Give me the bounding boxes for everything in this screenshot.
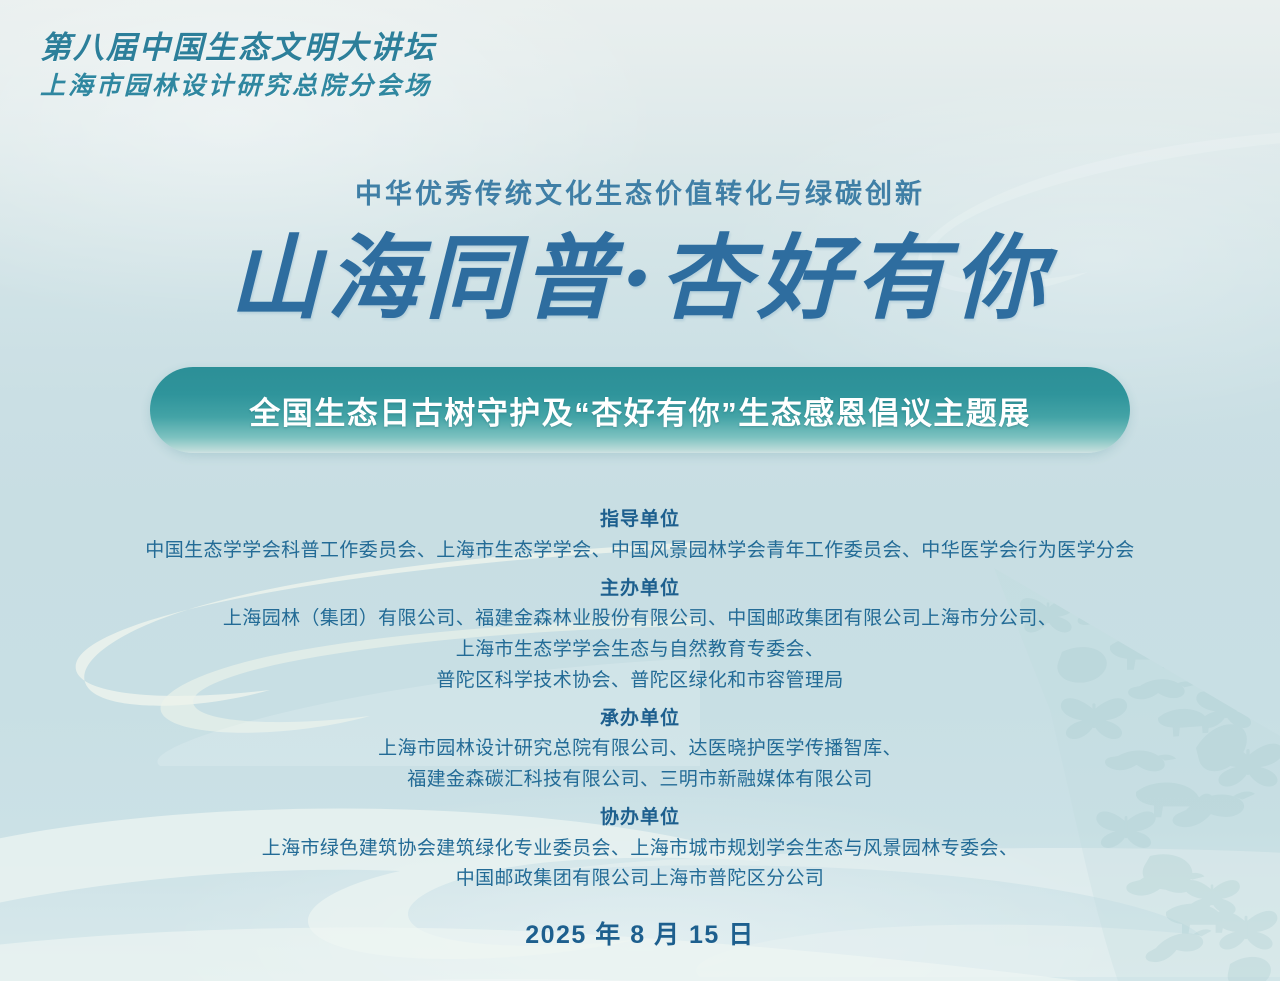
theme-banner: 全国生态日古树守护及“杏好有你”生态感恩倡议主题展 — [150, 367, 1130, 453]
credit-group-line: 上海园林（集团）有限公司、福建金森林业股份有限公司、中国邮政集团有限公司上海市分… — [0, 604, 1280, 635]
event-header: 第八届中国生态文明大讲坛 上海市园林设计研究总院分会场 — [40, 30, 436, 101]
credit-group-label: 协办单位 — [0, 803, 1280, 834]
event-date: 2025 年 8 月 15 日 — [0, 915, 1280, 951]
credit-group-line: 上海市园林设计研究总院有限公司、达医晓护医学传播智库、 — [0, 734, 1280, 765]
theme-banner-text: 全国生态日古树守护及“杏好有你”生态感恩倡议主题展 — [249, 388, 1031, 433]
credit-group-label: 承办单位 — [0, 704, 1280, 735]
credit-group-line: 上海市绿色建筑协会建筑绿化专业委员会、上海市城市规划学会生态与风景园林专委会、 — [0, 834, 1280, 865]
credit-group-label: 主办单位 — [0, 574, 1280, 605]
credits-section: 指导单位中国生态学学会科普工作委员会、上海市生态学学会、中国风景园林学会青年工作… — [0, 505, 1280, 951]
title-block: 中华优秀传统文化生态价值转化与绿碳创新 山海同普·杏好有你 — [0, 172, 1280, 330]
credit-group-line: 中国邮政集团有限公司上海市普陀区分公司 — [0, 864, 1280, 895]
credit-group-line: 中国生态学学会科普工作委员会、上海市生态学学会、中国风景园林学会青年工作委员会、… — [0, 536, 1280, 567]
credit-group-label: 指导单位 — [0, 505, 1280, 536]
credit-group-line: 福建金森碳汇科技有限公司、三明市新融媒体有限公司 — [0, 765, 1280, 796]
credit-group: 协办单位上海市绿色建筑协会建筑绿化专业委员会、上海市城市规划学会生态与风景园林专… — [0, 803, 1280, 895]
header-line-2: 上海市园林设计研究总院分会场 — [40, 71, 436, 102]
header-line-1: 第八届中国生态文明大讲坛 — [40, 30, 436, 68]
credit-group-list: 指导单位中国生态学学会科普工作委员会、上海市生态学学会、中国风景园林学会青年工作… — [0, 505, 1280, 895]
poster-root: 第八届中国生态文明大讲坛 上海市园林设计研究总院分会场 中华优秀传统文化生态价值… — [0, 0, 1280, 981]
credit-group: 承办单位上海市园林设计研究总院有限公司、达医晓护医学传播智库、福建金森碳汇科技有… — [0, 704, 1280, 796]
poster-subtitle: 中华优秀传统文化生态价值转化与绿碳创新 — [0, 172, 1280, 211]
credit-group-line: 普陀区科学技术协会、普陀区绿化和市容管理局 — [0, 666, 1280, 697]
credit-group: 指导单位中国生态学学会科普工作委员会、上海市生态学学会、中国风景园林学会青年工作… — [0, 505, 1280, 567]
credit-group: 主办单位上海园林（集团）有限公司、福建金森林业股份有限公司、中国邮政集团有限公司… — [0, 574, 1280, 697]
poster-main-title: 山海同普·杏好有你 — [0, 227, 1280, 330]
credit-group-line: 上海市生态学学会生态与自然教育专委会、 — [0, 635, 1280, 666]
